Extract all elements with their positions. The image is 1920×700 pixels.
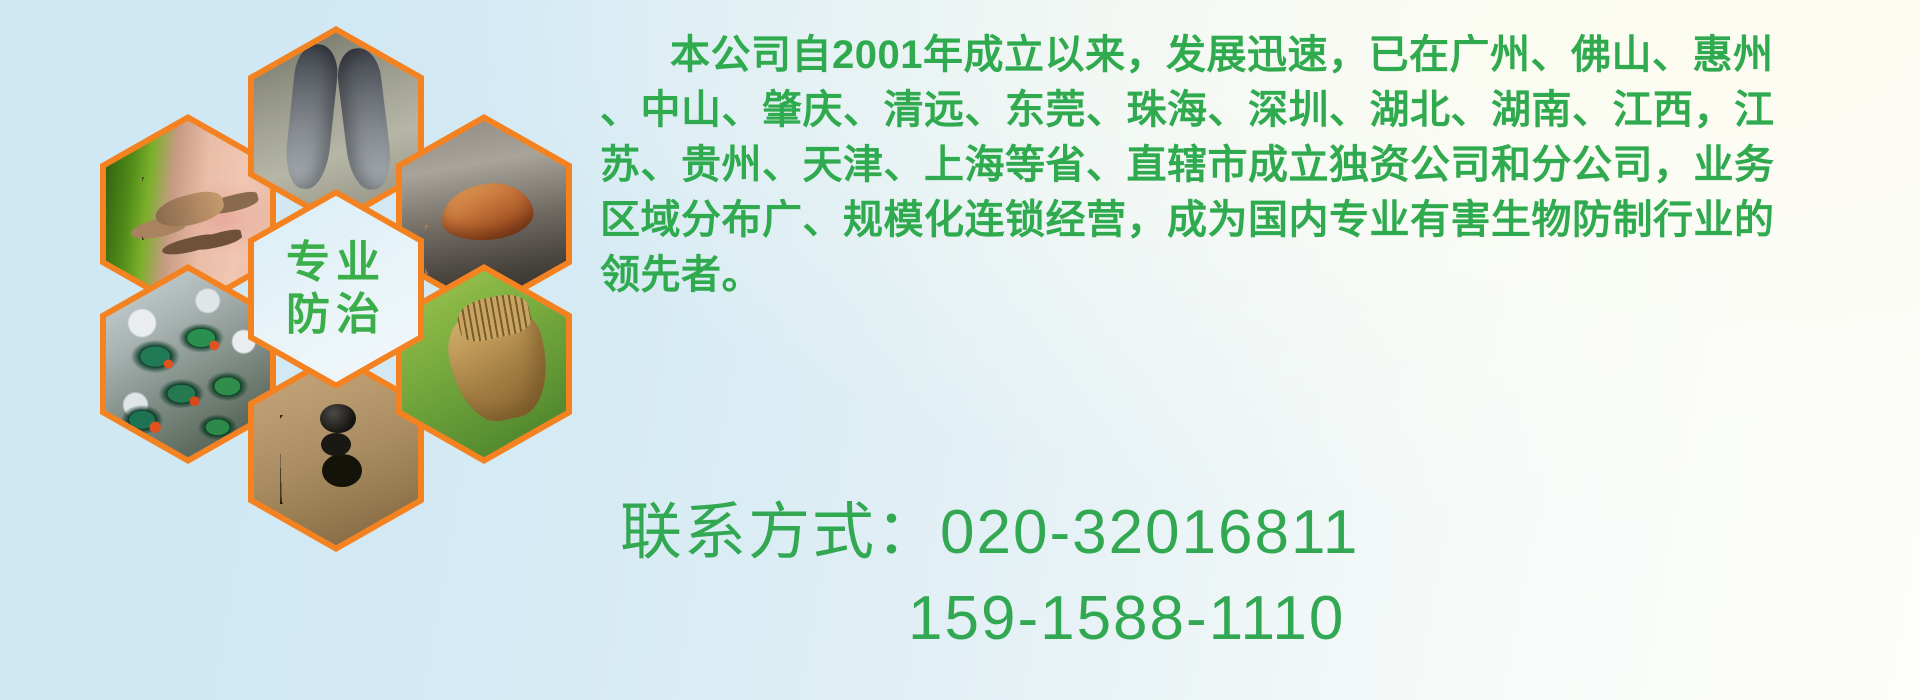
- flies-photo: [106, 271, 270, 457]
- contact-phone-mobile[interactable]: 159-1588-1110: [620, 576, 1920, 662]
- hex-photo-frame: [402, 271, 566, 457]
- honeycomb-cluster: 专业 防治: [78, 2, 588, 582]
- description-line-5: 领先者。: [600, 248, 1920, 303]
- contact-block: 联系方式：020-32016811 159-1588-1110: [620, 490, 1920, 662]
- stinkbug-photo: [402, 271, 566, 457]
- description-line-3: 苏、贵州、天津、上海等省、直辖市成立独资公司和分公司，业务: [600, 138, 1920, 193]
- company-description: 本公司自2001年成立以来，发展迅速，已在广州、佛山、惠州 、中山、肇庆、清远、…: [600, 28, 1920, 303]
- hex-photo-frame: [106, 271, 270, 457]
- slogan-line-2: 防治: [286, 289, 386, 341]
- description-line-4: 区域分布广、规模化连锁经营，成为国内专业有害生物防制行业的: [600, 193, 1920, 248]
- description-line-1: 本公司自2001年成立以来，发展迅速，已在广州、佛山、惠州: [600, 28, 1920, 83]
- hex-slogan-frame: 专业 防治: [254, 196, 418, 382]
- contact-phone-landline[interactable]: 联系方式：020-32016811: [620, 490, 1920, 576]
- description-line-2: 、中山、肇庆、清远、东莞、珠海、深圳、湖北、湖南、江西，江: [600, 83, 1920, 138]
- slogan-line-1: 专业: [286, 237, 386, 289]
- banner-root: 专业 防治 本公司自2001年成立以来，发展迅速，已在广州、佛山、惠州 、中山、…: [0, 0, 1920, 700]
- slogan-text: 专业 防治: [254, 196, 418, 382]
